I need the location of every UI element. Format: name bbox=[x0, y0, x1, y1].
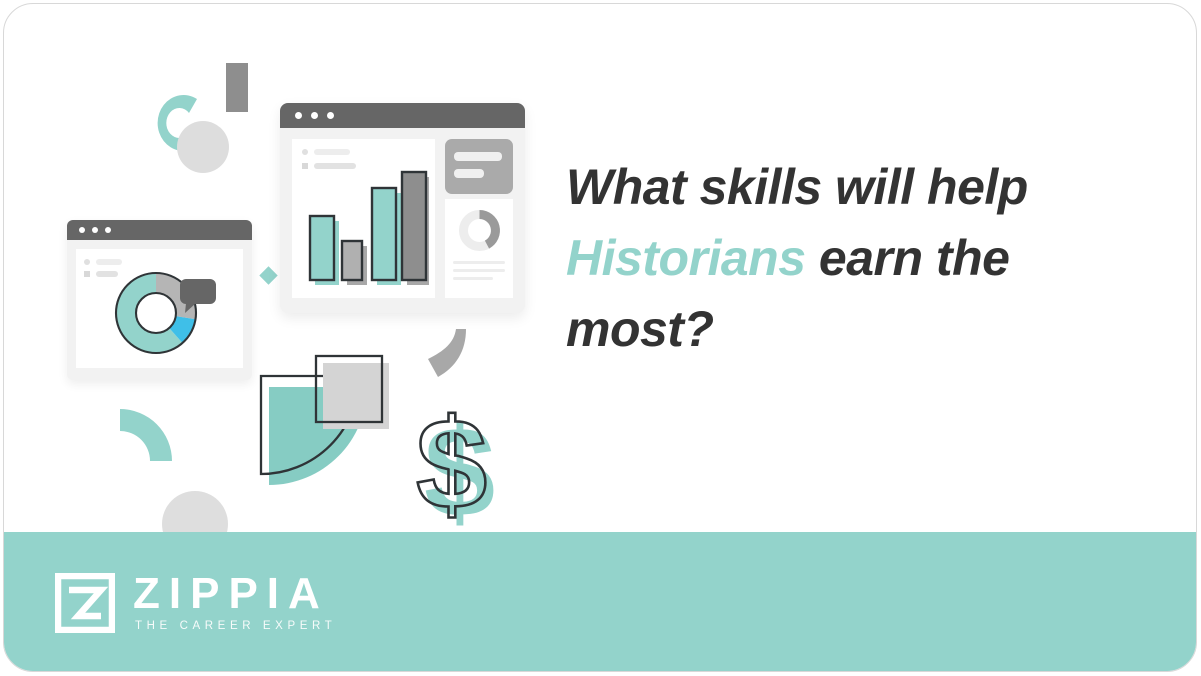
placeholder-line bbox=[453, 277, 493, 280]
dollar-sign-icon: $ $ bbox=[416, 404, 498, 529]
teal-arc-bottom-icon bbox=[116, 409, 172, 461]
gray-circle-top-icon bbox=[177, 121, 229, 173]
logo-tagline: THE CAREER EXPERT bbox=[135, 619, 336, 633]
logo-wordmark: ZIPPIA bbox=[133, 572, 336, 616]
window-dot-icon bbox=[105, 227, 111, 233]
bar-chart-graphic bbox=[299, 147, 429, 292]
window-dot-icon bbox=[79, 227, 85, 233]
legend-dot-icon bbox=[84, 259, 90, 265]
legend-square-icon bbox=[84, 271, 90, 277]
bar-chart-panel bbox=[292, 139, 435, 298]
summary-card bbox=[445, 139, 513, 194]
donut-chart-window bbox=[67, 220, 252, 380]
teal-diamond-icon bbox=[259, 266, 277, 284]
placeholder-line bbox=[453, 261, 505, 264]
zippia-logo[interactable]: ZIPPIA THE CAREER EXPERT bbox=[55, 572, 336, 633]
placeholder-line bbox=[453, 269, 505, 272]
window-dot-icon bbox=[311, 112, 318, 119]
summary-card-bar bbox=[454, 169, 484, 178]
gray-square-icon bbox=[314, 354, 394, 432]
donut-window-body bbox=[76, 249, 243, 368]
window-titlebar bbox=[67, 220, 252, 240]
promo-card: $ $ ZIPPIA THE CAREER EXPERT What skills… bbox=[3, 3, 1197, 672]
page-title: What skills will help Historians earn th… bbox=[566, 152, 1166, 365]
bar-chart-dashboard-window bbox=[280, 103, 525, 313]
gray-rectangle-top-icon bbox=[226, 63, 248, 112]
window-dot-icon bbox=[295, 112, 302, 119]
headline-line-2: earn the bbox=[806, 230, 1010, 286]
summary-card-bar bbox=[454, 152, 502, 161]
donut-summary-card bbox=[445, 199, 513, 298]
logo-text-block: ZIPPIA THE CAREER EXPERT bbox=[133, 572, 336, 633]
headline-accent-word: Historians bbox=[566, 230, 806, 286]
zippia-z-logo-icon bbox=[55, 573, 115, 633]
window-dot-icon bbox=[327, 112, 334, 119]
donut-chart-graphic bbox=[98, 261, 218, 366]
window-dot-icon bbox=[92, 227, 98, 233]
window-titlebar bbox=[280, 103, 525, 128]
svg-text:$: $ bbox=[416, 404, 487, 529]
ring-chart-icon bbox=[457, 208, 502, 253]
gray-petal-icon bbox=[428, 329, 468, 377]
headline-line-1: What skills will help bbox=[566, 159, 1028, 215]
donut-tooltip bbox=[180, 279, 216, 304]
headline-line-3: most? bbox=[566, 301, 714, 357]
